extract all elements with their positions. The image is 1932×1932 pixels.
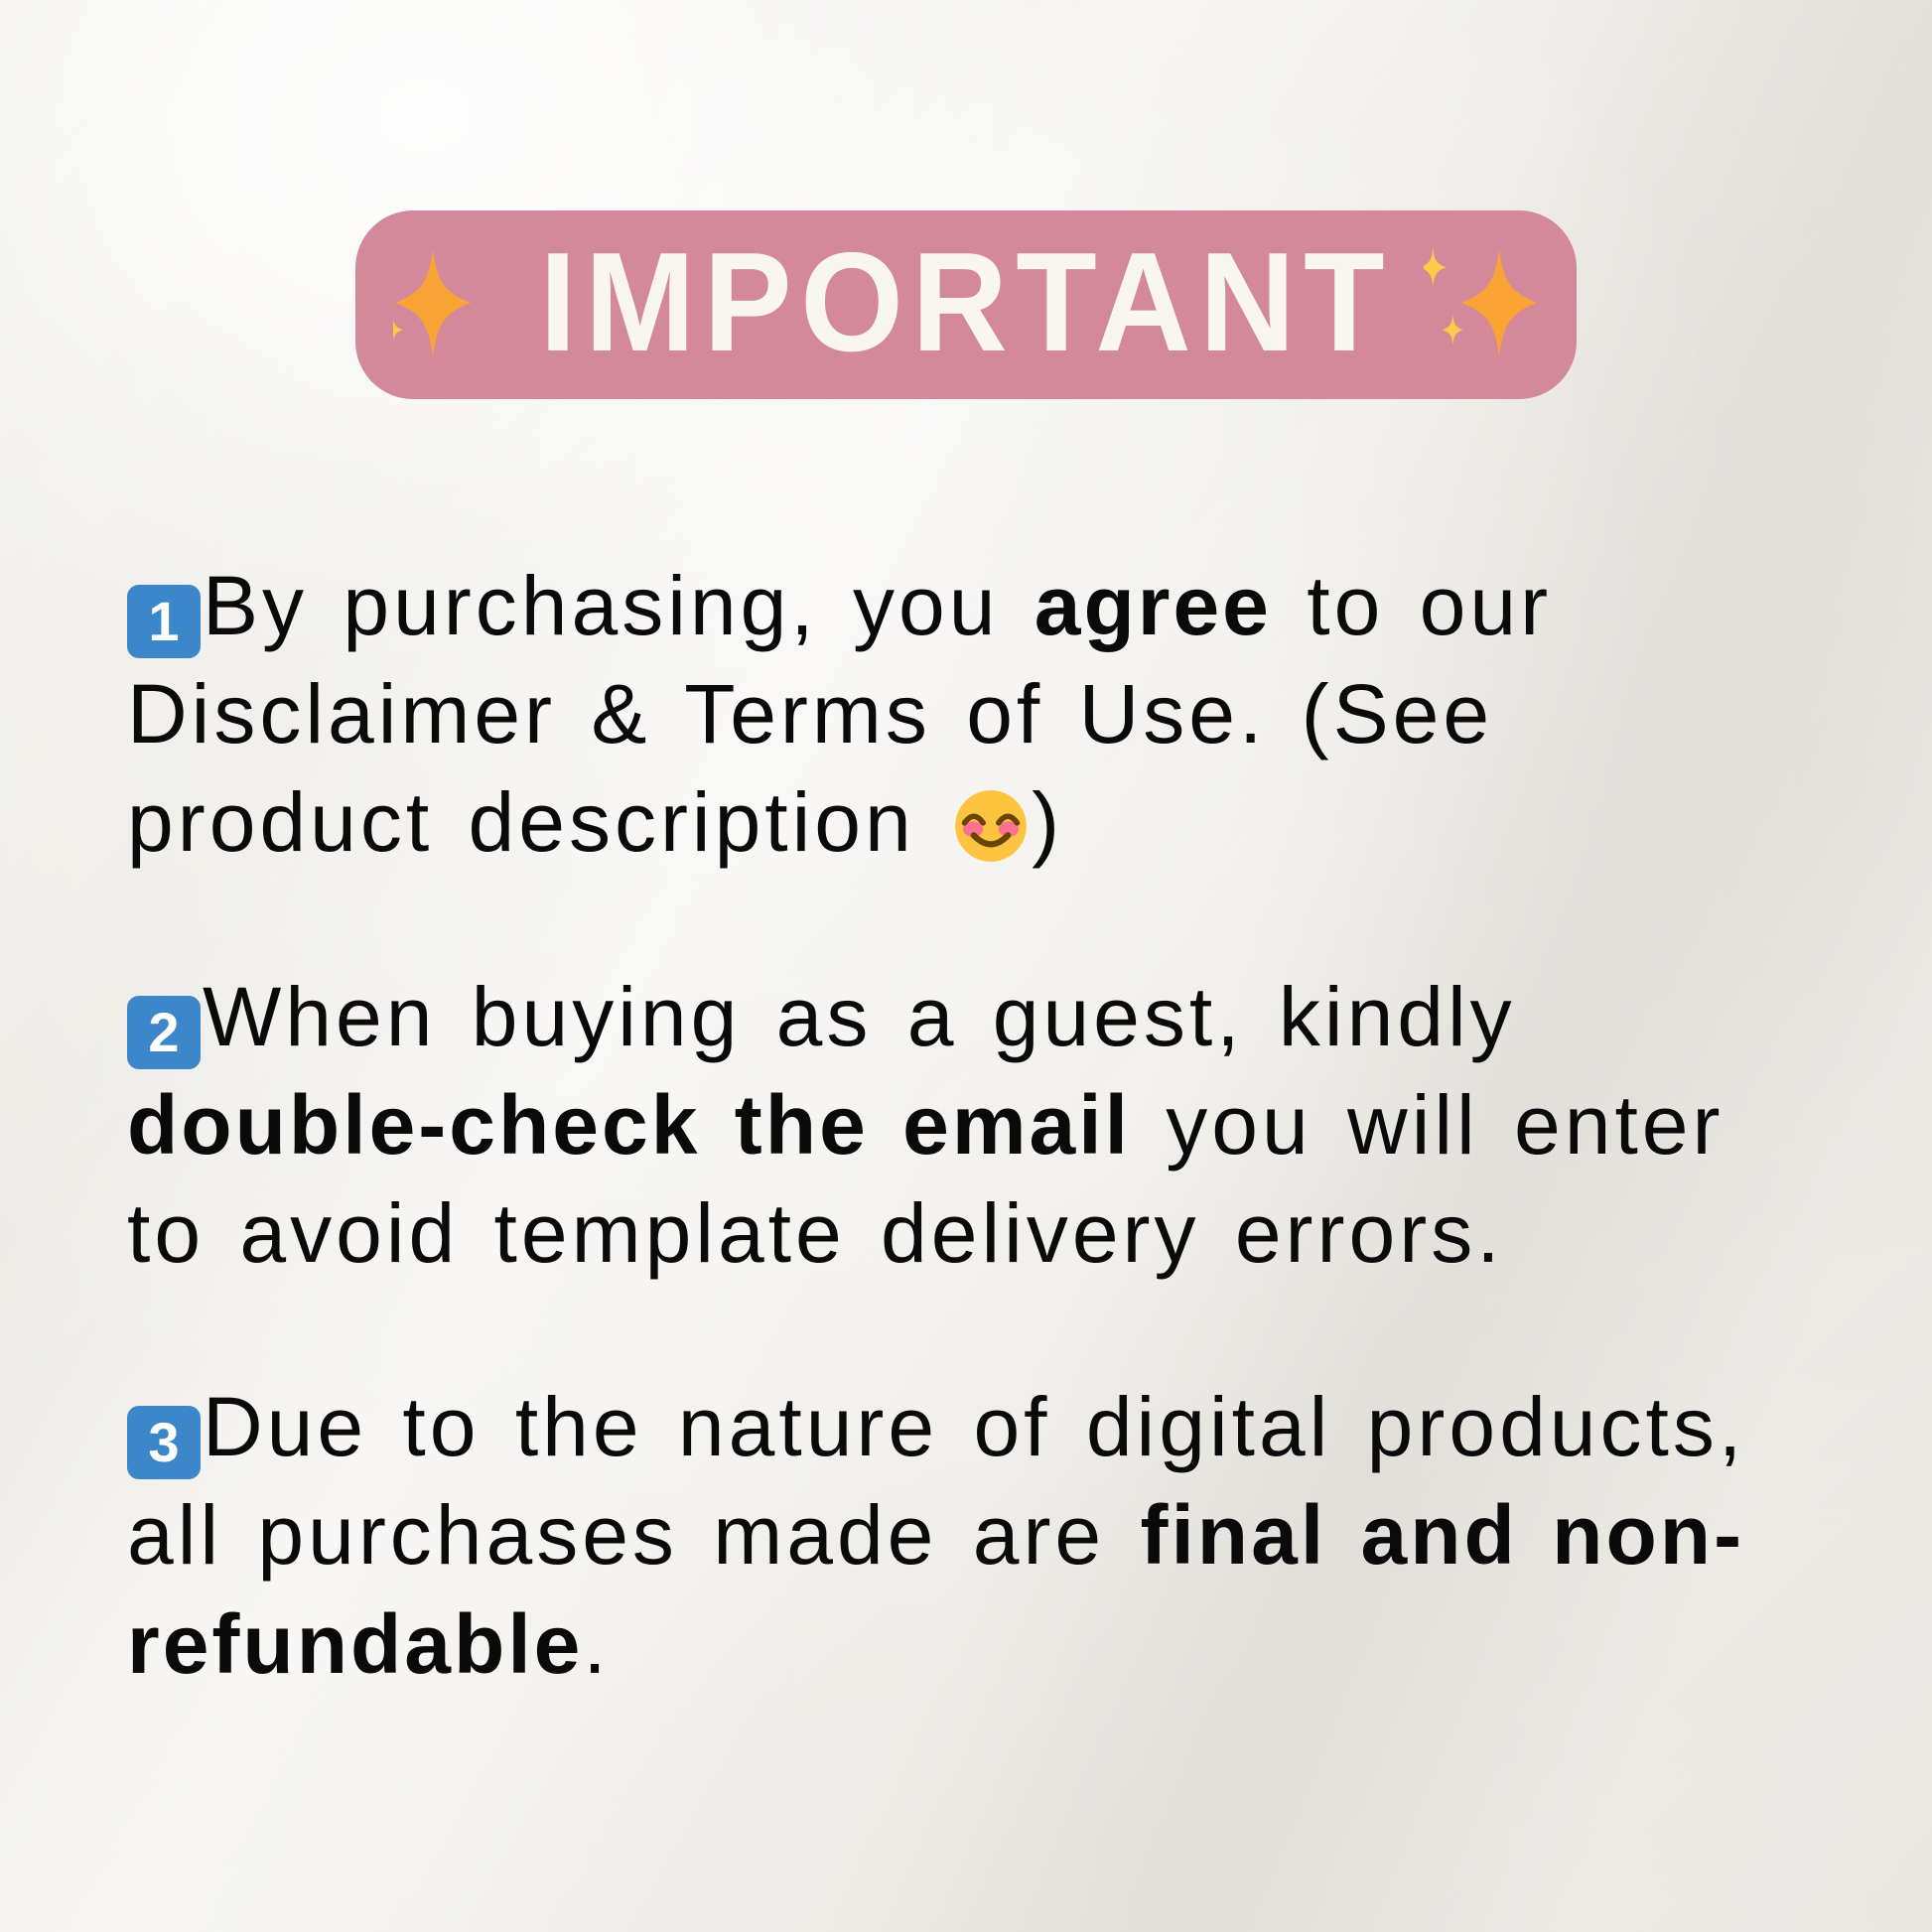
- keycap-two-icon: 2: [127, 996, 201, 1069]
- item-emphasis: double-check the email: [127, 1078, 1131, 1172]
- item-text-segment: By purchasing, you: [203, 559, 1035, 652]
- keycap-three-icon: 3: [127, 1406, 201, 1479]
- banner-container: IMPORTANT: [0, 210, 1932, 399]
- banner-title: IMPORTANT: [539, 232, 1393, 373]
- item-text-segment: ): [1032, 775, 1063, 869]
- important-banner: IMPORTANT: [355, 210, 1578, 399]
- item-emphasis: agree: [1035, 559, 1272, 652]
- smiling-face-with-smiling-eyes-icon: [952, 787, 1030, 865]
- sparkles-icon-left: [393, 239, 508, 366]
- sparkles-icon-right: [1424, 239, 1539, 366]
- list-item: 2When buying as a guest, kindly double-c…: [127, 963, 1815, 1289]
- keycap-one-icon: 1: [127, 585, 201, 658]
- notice-list: 1By purchasing, you agree to our Disclai…: [127, 552, 1815, 1699]
- list-item: 3Due to the nature of digital products, …: [127, 1373, 1815, 1699]
- item-text-segment: When buying as a guest, kindly: [203, 970, 1516, 1063]
- poster-canvas: IMPORTANT 1By purchasing, you agree to o…: [0, 0, 1932, 1932]
- list-item: 1By purchasing, you agree to our Disclai…: [127, 552, 1815, 878]
- item-text-segment: .: [583, 1597, 610, 1691]
